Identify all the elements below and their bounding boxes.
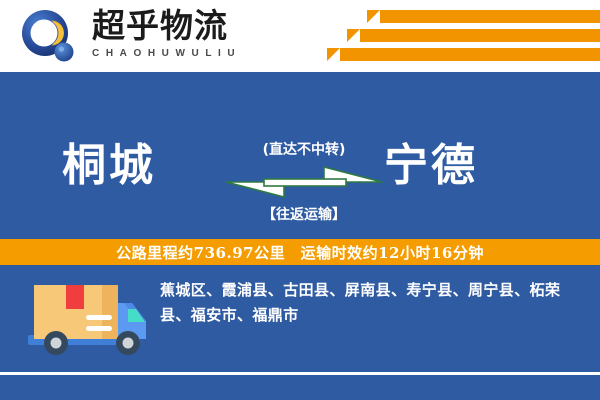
stripe-3	[340, 48, 600, 61]
brand-name-en: CHAOHUWULIU	[92, 47, 292, 61]
circle-crescent-logo-icon	[21, 9, 77, 65]
bottom-divider	[0, 372, 600, 375]
coverage-area-block: 蕉城区、霞浦县、古田县、屏南县、寿宁县、周宁县、柘荣县、福安市、福鼎市	[160, 278, 580, 328]
double-headed-arrow-icon	[224, 165, 384, 199]
main-blue-panel: 桐城 (直达不中转) 【往返运输】 宁德 公路里程约736.97公里 运输时效约…	[0, 72, 600, 400]
route-middle: (直达不中转) 【往返运输】	[218, 104, 390, 244]
coverage-area-text: 蕉城区、霞浦县、古田县、屏南县、寿宁县、周宁县、柘荣县、福安市、福鼎市	[160, 278, 580, 328]
route-row: 桐城 (直达不中转) 【往返运输】 宁德	[0, 104, 600, 244]
brand-name-cn: 超乎物流	[92, 7, 292, 45]
logistics-route-banner: 超乎物流 CHAOHUWULIU 桐城 (直达不中转)	[0, 0, 600, 400]
distance-duration-bar: 公路里程约736.97公里 运输时效约12小时16分钟	[0, 237, 600, 267]
origin-city: 桐城	[62, 138, 156, 194]
banner-header: 超乎物流 CHAOHUWULIU	[0, 0, 600, 72]
stripe-1	[380, 10, 600, 23]
destination-city: 宁德	[384, 138, 478, 194]
delivery-truck-icon	[24, 277, 152, 369]
stripe-2	[360, 29, 600, 42]
brand-block: 超乎物流 CHAOHUWULIU	[92, 7, 292, 61]
return-note: 【往返运输】	[218, 205, 390, 225]
distance-duration-text: 公路里程约736.97公里 运输时效约12小时16分钟	[116, 242, 484, 263]
direct-note: (直达不中转)	[218, 140, 390, 160]
orange-speed-stripes-icon	[340, 0, 600, 72]
